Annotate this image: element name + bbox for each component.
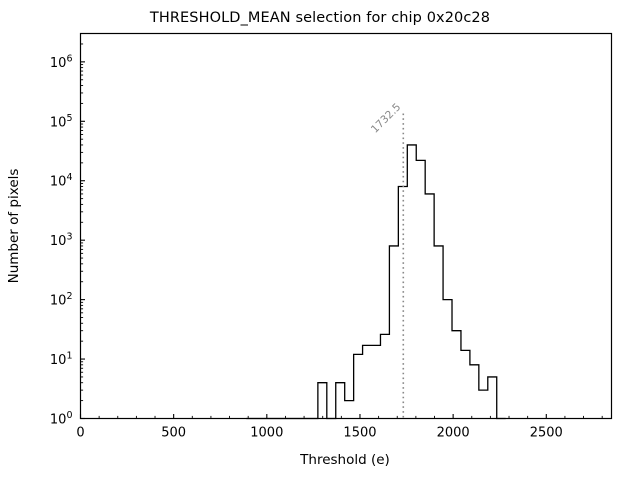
x-axis-title: Threshold (e) (299, 452, 390, 468)
y-tick-label: 105 (50, 113, 73, 131)
plot-frame (81, 34, 612, 419)
chart-figure: THRESHOLD_MEAN selection for chip 0x20c2… (0, 0, 640, 480)
x-axis-ticks (81, 414, 547, 419)
y-tick-label: 106 (50, 53, 73, 71)
threshold-annotation-label: 1732.5 (369, 101, 403, 135)
x-tick-label: 500 (161, 426, 186, 441)
plot-canvas: 1732.5 05001000150020002500 100101102103… (0, 0, 640, 480)
y-tick-label: 102 (50, 291, 73, 309)
y-tick-label: 100 (50, 410, 73, 428)
histogram-step-line (246, 145, 505, 419)
x-tick-label: 2500 (530, 426, 563, 441)
x-tick-label: 2000 (437, 426, 470, 441)
x-tick-label: 1000 (250, 426, 283, 441)
y-axis-title: Number of pixels (6, 169, 22, 284)
y-tick-label: 101 (50, 351, 73, 369)
y-tick-label: 103 (50, 232, 73, 250)
x-axis-tick-labels: 05001000150020002500 (76, 426, 562, 441)
x-tick-label: 0 (76, 426, 84, 441)
y-tick-label: 104 (50, 172, 73, 190)
y-axis-tick-labels: 100101102103104105106 (50, 53, 73, 427)
x-tick-label: 1500 (343, 426, 376, 441)
